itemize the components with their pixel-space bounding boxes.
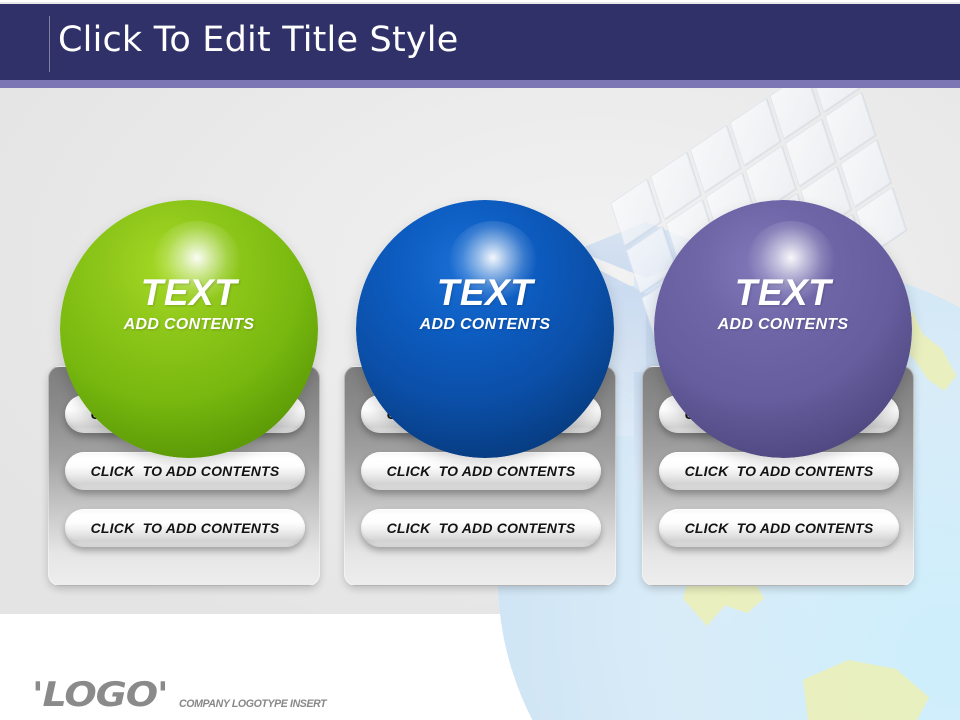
title-bar: Click To Edit Title Style	[0, 2, 960, 80]
content-button-3[interactable]: CLICK TO ADD CONTENTS	[659, 509, 899, 547]
logo-mark[interactable]: 'LOGO'	[32, 678, 168, 712]
content-button-label: CLICK TO ADD CONTENTS	[685, 520, 874, 536]
sphere-green[interactable]: TEXT ADD CONTENTS	[60, 200, 318, 458]
sphere-label-group: TEXT ADD CONTENTS	[60, 274, 318, 333]
sphere-label-group: TEXT ADD CONTENTS	[356, 274, 614, 333]
content-button-label: CLICK TO ADD CONTENTS	[387, 463, 576, 479]
footer-logo-area[interactable]: 'LOGO' COMPANY LOGOTYPE INSERT	[32, 668, 332, 712]
content-column-purple: CLICK TO ADD CONTENTS CLICK TO ADD CONTE…	[640, 200, 940, 600]
sphere-headline[interactable]: TEXT	[356, 274, 614, 311]
title-underbar	[0, 80, 960, 88]
sphere-subhead[interactable]: ADD CONTENTS	[356, 317, 614, 333]
sphere-subhead[interactable]: ADD CONTENTS	[654, 317, 912, 333]
logo-caption[interactable]: COMPANY LOGOTYPE INSERT	[179, 698, 326, 710]
title-accent-rule	[49, 16, 50, 72]
content-column-green: CLICK TO ADD CONTENTS CLICK TO ADD CONTE…	[46, 200, 346, 600]
content-button-label: CLICK TO ADD CONTENTS	[91, 520, 280, 536]
title-bar-top-rule	[0, 2, 960, 4]
sphere-headline[interactable]: TEXT	[60, 274, 318, 311]
slide-canvas: Click To Edit Title Style CLICK TO ADD C…	[0, 0, 960, 720]
sphere-subhead[interactable]: ADD CONTENTS	[60, 317, 318, 333]
content-button-label: CLICK TO ADD CONTENTS	[91, 463, 280, 479]
content-button-label: CLICK TO ADD CONTENTS	[387, 520, 576, 536]
content-button-3[interactable]: CLICK TO ADD CONTENTS	[361, 509, 601, 547]
content-button-3[interactable]: CLICK TO ADD CONTENTS	[65, 509, 305, 547]
sphere-blue[interactable]: TEXT ADD CONTENTS	[356, 200, 614, 458]
content-column-blue: CLICK TO ADD CONTENTS CLICK TO ADD CONTE…	[342, 200, 642, 600]
sphere-headline[interactable]: TEXT	[654, 274, 912, 311]
sphere-label-group: TEXT ADD CONTENTS	[654, 274, 912, 333]
page-title[interactable]: Click To Edit Title Style	[58, 20, 458, 60]
content-button-label: CLICK TO ADD CONTENTS	[685, 463, 874, 479]
sphere-purple[interactable]: TEXT ADD CONTENTS	[654, 200, 912, 458]
